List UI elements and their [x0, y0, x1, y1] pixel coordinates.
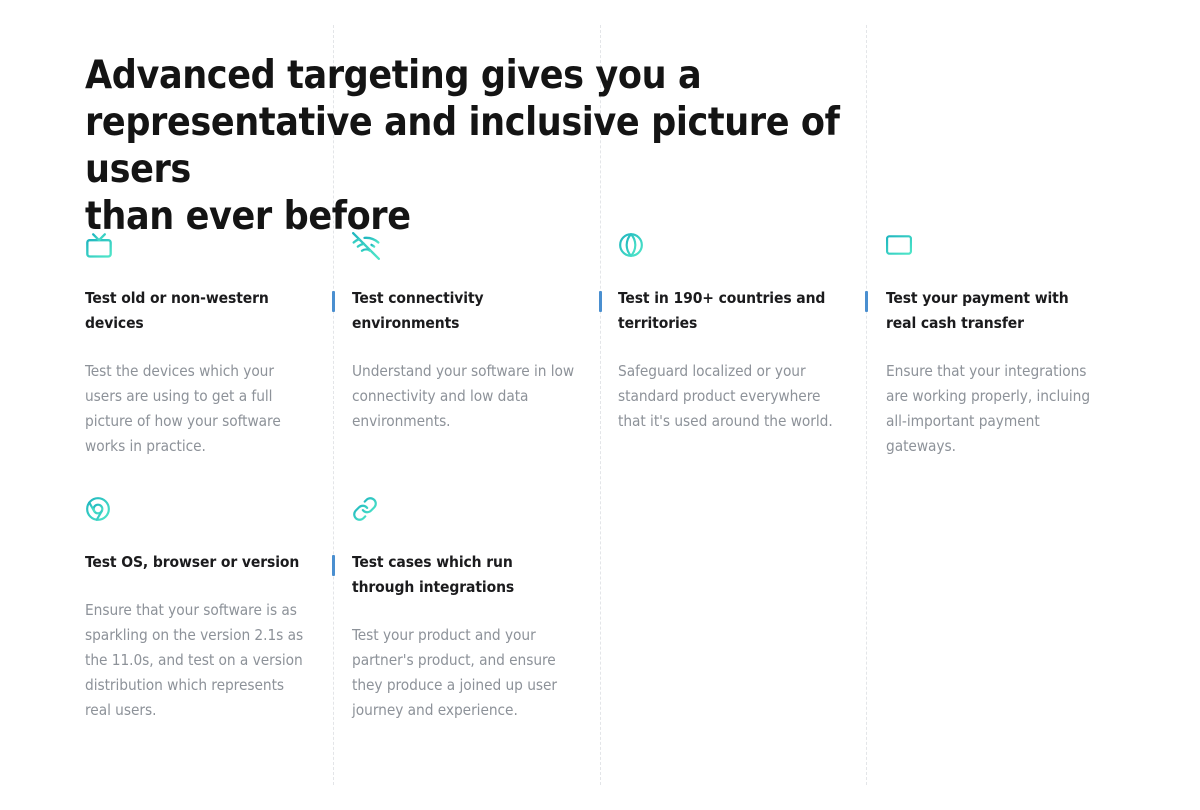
- accent-tick: [865, 291, 868, 312]
- wifi-off-icon: [352, 232, 577, 266]
- feature-card[interactable]: Test connectivity environments Understan…: [352, 232, 577, 434]
- feature-card-title: Test in 190+ countries and territories: [618, 286, 843, 336]
- accent-tick: [332, 555, 335, 576]
- feature-card[interactable]: Test OS, browser or version Ensure that …: [85, 496, 310, 723]
- feature-card-body: Understand your software in low connecti…: [352, 359, 577, 434]
- feature-card-title: Test old or non-western devices: [85, 286, 310, 336]
- feature-grid: Test old or non-western devices Test the…: [0, 232, 1200, 760]
- feature-card-title: Test cases which run through integration…: [352, 550, 577, 600]
- feature-card-body: Ensure that your integrations are workin…: [886, 359, 1101, 459]
- tv-icon: [85, 232, 310, 266]
- feature-row-1: Test old or non-western devices Test the…: [0, 232, 1200, 496]
- credit-card-icon: [886, 232, 1101, 266]
- feature-card-body: Test your product and your partner's pro…: [352, 623, 577, 723]
- feature-card-body: Test the devices which your users are us…: [85, 359, 310, 459]
- globe-icon: [618, 232, 843, 266]
- feature-card-body: Ensure that your software is as sparklin…: [85, 598, 310, 723]
- feature-card[interactable]: Test cases which run through integration…: [352, 496, 577, 723]
- feature-row-2: Test OS, browser or version Ensure that …: [0, 496, 1200, 760]
- link-icon: [352, 496, 577, 530]
- feature-card-title: Test OS, browser or version: [85, 550, 310, 575]
- page-title-line-2: representative and inclusive picture of …: [85, 100, 839, 192]
- feature-card-title: Test your payment with real cash transfe…: [886, 286, 1101, 336]
- page-title-line-1: Advanced targeting gives you a: [85, 53, 701, 98]
- feature-card[interactable]: Test in 190+ countries and territories S…: [618, 232, 843, 434]
- browser-icon: [85, 496, 310, 530]
- feature-card[interactable]: Test old or non-western devices Test the…: [85, 232, 310, 459]
- feature-card[interactable]: Test your payment with real cash transfe…: [886, 232, 1101, 459]
- feature-card-title: Test connectivity environments: [352, 286, 577, 336]
- feature-card-body: Safeguard localized or your standard pro…: [618, 359, 843, 434]
- accent-tick: [332, 291, 335, 312]
- feature-grid-page: Advanced targeting gives you a represent…: [0, 0, 1200, 810]
- page-title: Advanced targeting gives you a represent…: [85, 52, 885, 240]
- accent-tick: [599, 291, 602, 312]
